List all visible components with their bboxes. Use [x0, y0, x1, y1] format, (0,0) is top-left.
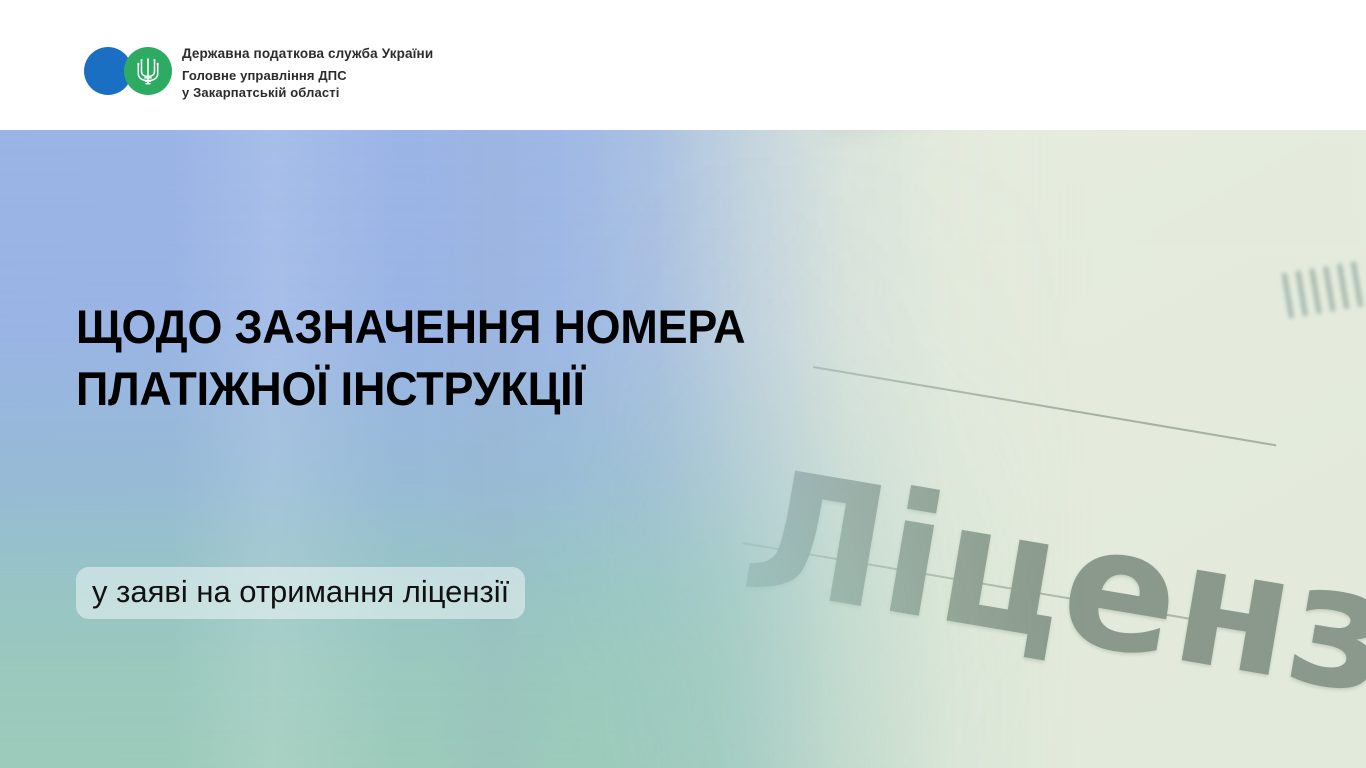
- page-subtitle: у заяві на отримання ліцензії: [92, 574, 509, 609]
- ukraine-trident-icon: [124, 47, 172, 95]
- org-name-line-3: у Закарпатській області: [182, 84, 433, 101]
- org-name-line-2: Головне управління ДПС: [182, 67, 433, 84]
- org-name-line-1: Державна податкова служба України: [182, 45, 433, 62]
- hero-copy: ЩОДО ЗАЗНАЧЕННЯ НОМЕРА ПЛАТІЖНОЇ ІНСТРУК…: [0, 130, 1366, 768]
- brand-block[interactable]: Державна податкова служба України Головн…: [84, 44, 433, 101]
- hero-banner: Ліцензія ЩОДО ЗАЗНАЧЕННЯ НОМЕРА ПЛАТІЖНО…: [0, 130, 1366, 768]
- dps-logo: [84, 47, 172, 95]
- promo-banner-page: Державна податкова служба України Головн…: [0, 0, 1366, 768]
- site-header: Державна податкова служба України Головн…: [0, 0, 1366, 130]
- brand-text: Державна податкова служба України Головн…: [182, 44, 433, 101]
- page-title: ЩОДО ЗАЗНАЧЕННЯ НОМЕРА ПЛАТІЖНОЇ ІНСТРУК…: [76, 296, 936, 420]
- headline-line-2: ПЛАТІЖНОЇ ІНСТРУКЦІЇ: [76, 358, 936, 420]
- subtitle-pill: у заяві на отримання ліцензії: [76, 567, 525, 619]
- headline-line-1: ЩОДО ЗАЗНАЧЕННЯ НОМЕРА: [76, 296, 936, 358]
